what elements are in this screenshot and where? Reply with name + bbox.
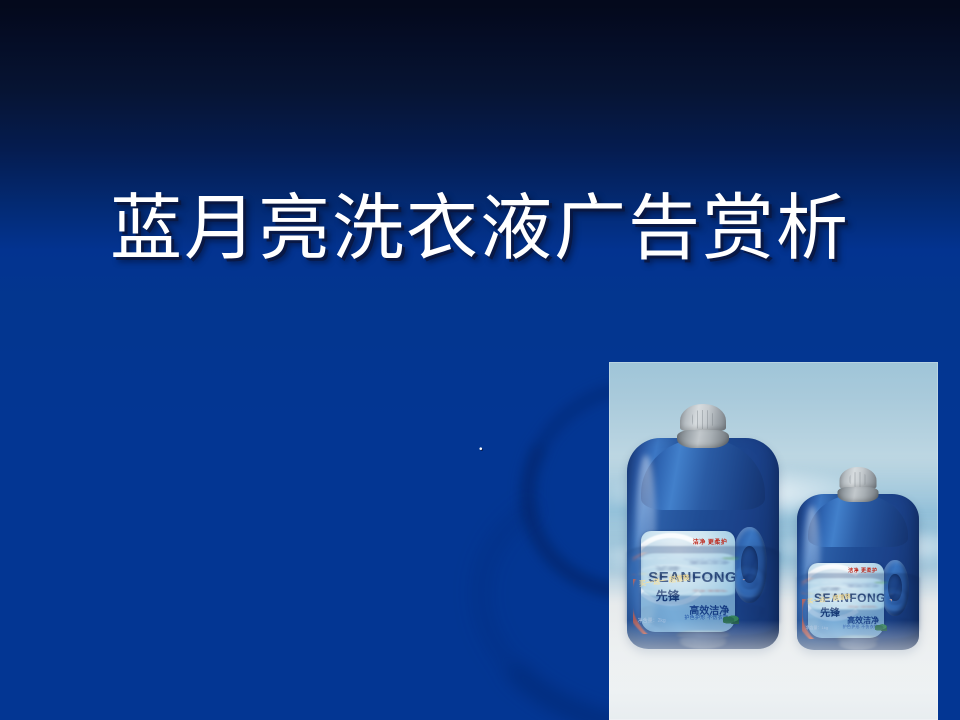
label-brand-chinese: 先锋 [656,565,680,572]
cap-grooves [692,410,714,428]
cap-grooves [849,642,867,648]
bottle-body: 洁净 更柔护 SEANFONG 先锋 高效洁净 护色护形 不伤衣物 买一送一 超… [797,573,919,639]
product-photo[interactable]: 洁净 更柔护 SEANFONG 先锋 高效洁净 护色护形 不伤衣物 买一送一 超… [609,362,938,720]
label-claim-sub: 护色护形 不伤衣物 [684,558,728,561]
bottle-leaf-graphic [723,557,739,561]
bottle-reflection: 洁净 更柔护 SEANFONG 先锋 高效洁净 护色护形 不伤衣物 买一送一 超… [797,573,919,650]
cap-grooves [849,472,867,487]
cap-dome [680,404,726,431]
bottle-cap [680,631,726,649]
bottle-leaf-graphic [875,581,887,584]
cap-ring [837,487,878,502]
bottle-body: 洁净 更柔护 SEANFONG 先锋 高效洁净 护色护形 不伤衣物 买一送一 超… [627,546,779,635]
cap-dome [840,641,877,650]
cap-ring [677,631,729,639]
bottle-handle [732,566,767,598]
bottle-handle [881,588,909,612]
bottle-cap [680,404,726,448]
bottle-net-weight: 净含量：2kg [638,557,666,560]
label-claim-sub: 护色护形 不伤衣物 [843,582,879,585]
cap-ring [837,635,878,641]
cap-grooves [692,639,714,647]
bottle-reflection: 洁净 更柔护 SEANFONG 先锋 高效洁净 护色护形 不伤衣物 买一送一 超… [627,546,779,649]
label-tagline: 洁净 更柔护 [848,605,877,608]
cap-ring [677,430,729,448]
label-tagline: 洁净 更柔护 [693,589,728,593]
bottle-net-weight: 净含量：1kg [806,581,828,584]
product-photo-content: 洁净 更柔护 SEANFONG 先锋 高效洁净 护色护形 不伤衣物 买一送一 超… [609,362,938,720]
cap-dome [840,467,877,489]
cap-dome [680,638,726,649]
bottle-shoulder [641,438,766,510]
slide-title: 蓝月亮洗衣液广告赏析 [96,186,864,272]
bottle-cap [840,635,877,650]
bottle-cap [840,467,877,502]
presentation-slide: 蓝月亮洗衣液广告赏析 . [0,0,960,720]
label-tagline: 洁净 更柔护 [693,537,728,546]
